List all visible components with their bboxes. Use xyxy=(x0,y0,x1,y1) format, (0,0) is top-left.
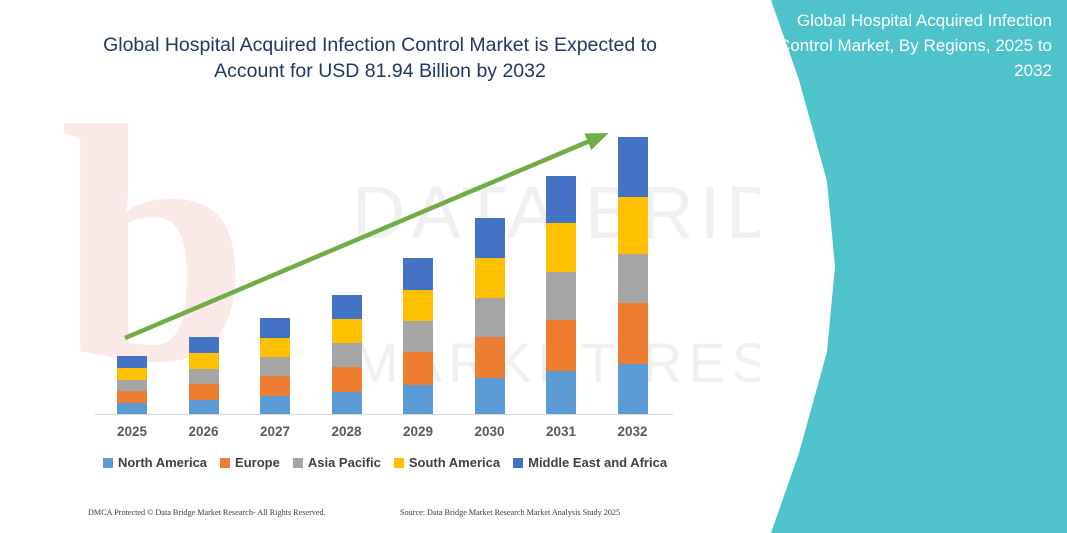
bar-segment xyxy=(332,295,362,319)
bar-segment xyxy=(475,378,505,415)
footer-source: Source: Data Bridge Market Research Mark… xyxy=(400,508,620,517)
bar-segment xyxy=(117,356,147,368)
bar-segment xyxy=(260,338,290,357)
bar-segment xyxy=(260,357,290,376)
bar-segment xyxy=(546,371,576,415)
bar-2032 xyxy=(618,137,648,415)
bar-segment xyxy=(332,319,362,343)
bar-segment xyxy=(618,303,648,364)
legend-item[interactable]: North America xyxy=(103,455,207,470)
legend-label: Europe xyxy=(235,455,280,470)
bar-segment xyxy=(403,385,433,415)
bar-segment xyxy=(332,343,362,367)
bar-segment xyxy=(546,320,576,371)
bar-segment xyxy=(260,396,290,415)
legend-swatch-icon xyxy=(103,458,113,468)
legend-swatch-icon xyxy=(293,458,303,468)
bar-2027 xyxy=(260,318,290,415)
bar-segment xyxy=(189,400,219,415)
bar-segment xyxy=(260,376,290,396)
bar-2029 xyxy=(403,258,433,415)
bar-segment xyxy=(117,380,147,391)
bar-2031 xyxy=(546,176,576,415)
bar-segment xyxy=(475,337,505,378)
chart-plot-area xyxy=(95,110,675,415)
bar-2026 xyxy=(189,337,219,415)
bar-segment xyxy=(475,298,505,337)
bar-segment xyxy=(260,318,290,338)
x-axis-tick-2031: 2031 xyxy=(536,424,586,439)
bar-segment xyxy=(189,384,219,400)
bar-segment xyxy=(618,364,648,415)
legend-item[interactable]: Europe xyxy=(220,455,280,470)
x-axis-labels: 20252026202720282029203020312032 xyxy=(95,424,675,446)
page-title: Global Hospital Acquired Infection Contr… xyxy=(70,32,690,84)
bar-segment xyxy=(546,272,576,320)
x-axis-tick-2029: 2029 xyxy=(393,424,443,439)
bar-segment xyxy=(546,223,576,272)
x-axis-tick-2030: 2030 xyxy=(465,424,515,439)
legend-item[interactable]: Asia Pacific xyxy=(293,455,381,470)
chart-panel: b DATA BRIDGE MARKET RESEARCH Global Hos… xyxy=(0,0,760,533)
bar-segment xyxy=(403,290,433,321)
bar-segment xyxy=(618,254,648,303)
legend-label: Asia Pacific xyxy=(308,455,381,470)
bar-segment xyxy=(117,368,147,380)
bar-segment xyxy=(332,367,362,392)
legend-swatch-icon xyxy=(513,458,523,468)
bar-segment xyxy=(189,369,219,384)
chart-legend: North AmericaEuropeAsia PacificSouth Ame… xyxy=(95,455,675,470)
legend-item[interactable]: Middle East and Africa xyxy=(513,455,667,470)
bar-segment xyxy=(117,391,147,403)
legend-label: North America xyxy=(118,455,207,470)
x-axis-tick-2027: 2027 xyxy=(250,424,300,439)
bar-segment xyxy=(332,392,362,415)
bar-segment xyxy=(475,258,505,298)
bar-segment xyxy=(403,258,433,290)
bar-segment xyxy=(403,321,433,352)
legend-label: South America xyxy=(409,455,500,470)
legend-swatch-icon xyxy=(220,458,230,468)
info-panel: Global Hospital Acquired Infection Contr… xyxy=(667,0,1067,533)
bar-segment xyxy=(189,337,219,353)
chart-baseline xyxy=(95,414,673,415)
x-axis-tick-2025: 2025 xyxy=(107,424,157,439)
legend-swatch-icon xyxy=(394,458,404,468)
bar-segment xyxy=(403,352,433,385)
footer-copyright: DMCA Protected © Data Bridge Market Rese… xyxy=(88,508,326,517)
legend-item[interactable]: South America xyxy=(394,455,500,470)
bar-segment xyxy=(618,137,648,197)
bar-2028 xyxy=(332,295,362,415)
x-axis-tick-2032: 2032 xyxy=(608,424,658,439)
panel-title: Global Hospital Acquired Infection Contr… xyxy=(762,8,1052,83)
bar-segment xyxy=(475,218,505,258)
bar-segment xyxy=(189,353,219,369)
bar-segment xyxy=(546,176,576,223)
x-axis-tick-2026: 2026 xyxy=(179,424,229,439)
legend-label: Middle East and Africa xyxy=(528,455,667,470)
bar-2025 xyxy=(117,356,147,415)
bar-2030 xyxy=(475,218,505,415)
x-axis-tick-2028: 2028 xyxy=(322,424,372,439)
bar-segment xyxy=(618,197,648,254)
